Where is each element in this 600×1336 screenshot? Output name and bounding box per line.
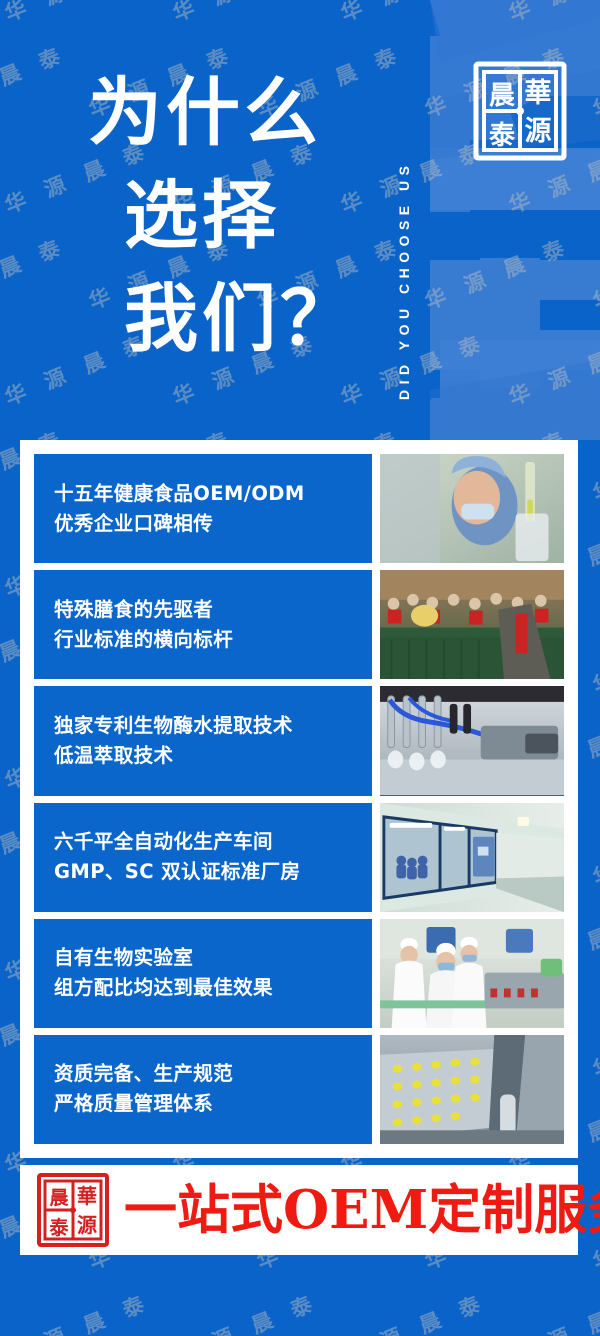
feature-photo (380, 570, 564, 679)
feature-line: 严格质量管理体系 (54, 1089, 352, 1119)
feature-photo (380, 1035, 564, 1144)
watermark-text: 华 源 晨 泰 (588, 614, 600, 700)
feature-row: 资质完备、生产规范严格质量管理体系 (34, 1035, 564, 1144)
feature-line: 低温萃取技术 (54, 741, 352, 771)
svg-text:源: 源 (77, 1213, 97, 1237)
feature-text-card: 六千平全自动化生产车间GMP、SC 双认证标准厂房 (34, 803, 372, 912)
svg-text:華: 華 (77, 1184, 97, 1208)
svg-text:源: 源 (525, 116, 552, 147)
feature-line: 资质完备、生产规范 (54, 1059, 352, 1089)
svg-text:泰: 泰 (48, 1216, 69, 1239)
watermark-text: 华 源 晨 泰 (336, 1286, 491, 1336)
feature-text-card: 自有生物实验室组方配比均达到最佳效果 (34, 919, 372, 1028)
company-seal-icon: 華 源 晨 泰 (468, 58, 572, 166)
feature-line: 自有生物实验室 (54, 943, 352, 973)
watermark-text: 华 源 晨 泰 (504, 1286, 600, 1336)
footer-banner: 華 源 晨 泰 一站式OEM定制服务 (20, 1165, 578, 1255)
title-line-3: 我们？ (88, 268, 388, 371)
feature-line: 特殊膳食的先驱者 (54, 595, 352, 625)
feature-line: 独家专利生物酶水提取技术 (54, 711, 352, 741)
watermark-text: 华 源 晨 泰 (0, 1286, 155, 1336)
feature-row: 特殊膳食的先驱者行业标准的横向标杆 (34, 570, 564, 679)
feature-line: 行业标准的横向标杆 (54, 625, 352, 655)
svg-text:泰: 泰 (489, 121, 516, 151)
watermark-text: 华 源 晨 泰 (588, 998, 600, 1084)
feature-photo (380, 454, 564, 563)
poster-root: 华 源 晨 泰华 源 晨 泰华 源 晨 泰华 源 晨 泰华 源 晨 泰华 源 晨… (0, 0, 600, 1336)
feature-line: GMP、SC 双认证标准厂房 (54, 857, 352, 887)
company-seal-red-icon: 華 源 晨 泰 (34, 1171, 112, 1249)
feature-line: 六千平全自动化生产车间 (54, 827, 352, 857)
svg-text:晨: 晨 (489, 81, 516, 111)
feature-text-card: 特殊膳食的先驱者行业标准的横向标杆 (34, 570, 372, 679)
feature-photo (380, 686, 564, 795)
feature-text-card: 资质完备、生产规范严格质量管理体系 (34, 1035, 372, 1144)
feature-line: 优秀企业口碑相传 (54, 509, 352, 539)
title-line-1: 为什么 (88, 62, 388, 165)
feature-line: 组方配比均达到最佳效果 (54, 973, 352, 1003)
watermark-text: 华 源 晨 泰 (588, 806, 600, 892)
watermark-text: 华 源 晨 泰 (168, 1286, 323, 1336)
feature-line: 十五年健康食品OEM/ODM (54, 479, 352, 509)
footer-slogan: 一站式OEM定制服务 (124, 1184, 600, 1237)
feature-row: 六千平全自动化生产车间GMP、SC 双认证标准厂房 (34, 803, 564, 912)
feature-photo (380, 803, 564, 912)
feature-row: 十五年健康食品OEM/ODM优秀企业口碑相传 (34, 454, 564, 563)
header: 为什么 选择 我们？ DID YOU CHOOSE US 華 源 晨 (0, 0, 600, 440)
feature-text-card: 十五年健康食品OEM/ODM优秀企业口碑相传 (34, 454, 372, 563)
svg-text:晨: 晨 (49, 1187, 69, 1209)
features-frame: 十五年健康食品OEM/ODM优秀企业口碑相传 特殊膳食的先驱者行业标准的横向标杆 (20, 440, 578, 1158)
vertical-english-subtitle: DID YOU CHOOSE US (396, 30, 426, 400)
feature-text-card: 独家专利生物酶水提取技术低温萃取技术 (34, 686, 372, 795)
features-list: 十五年健康食品OEM/ODM优秀企业口碑相传 特殊膳食的先驱者行业标准的横向标杆 (34, 454, 564, 1144)
feature-photo (380, 919, 564, 1028)
feature-row: 独家专利生物酶水提取技术低温萃取技术 (34, 686, 564, 795)
title-line-2: 选择 (88, 165, 388, 268)
feature-row: 自有生物实验室组方配比均达到最佳效果 (34, 919, 564, 1028)
page-title: 为什么 选择 我们？ (88, 62, 388, 371)
svg-text:華: 華 (525, 78, 552, 109)
